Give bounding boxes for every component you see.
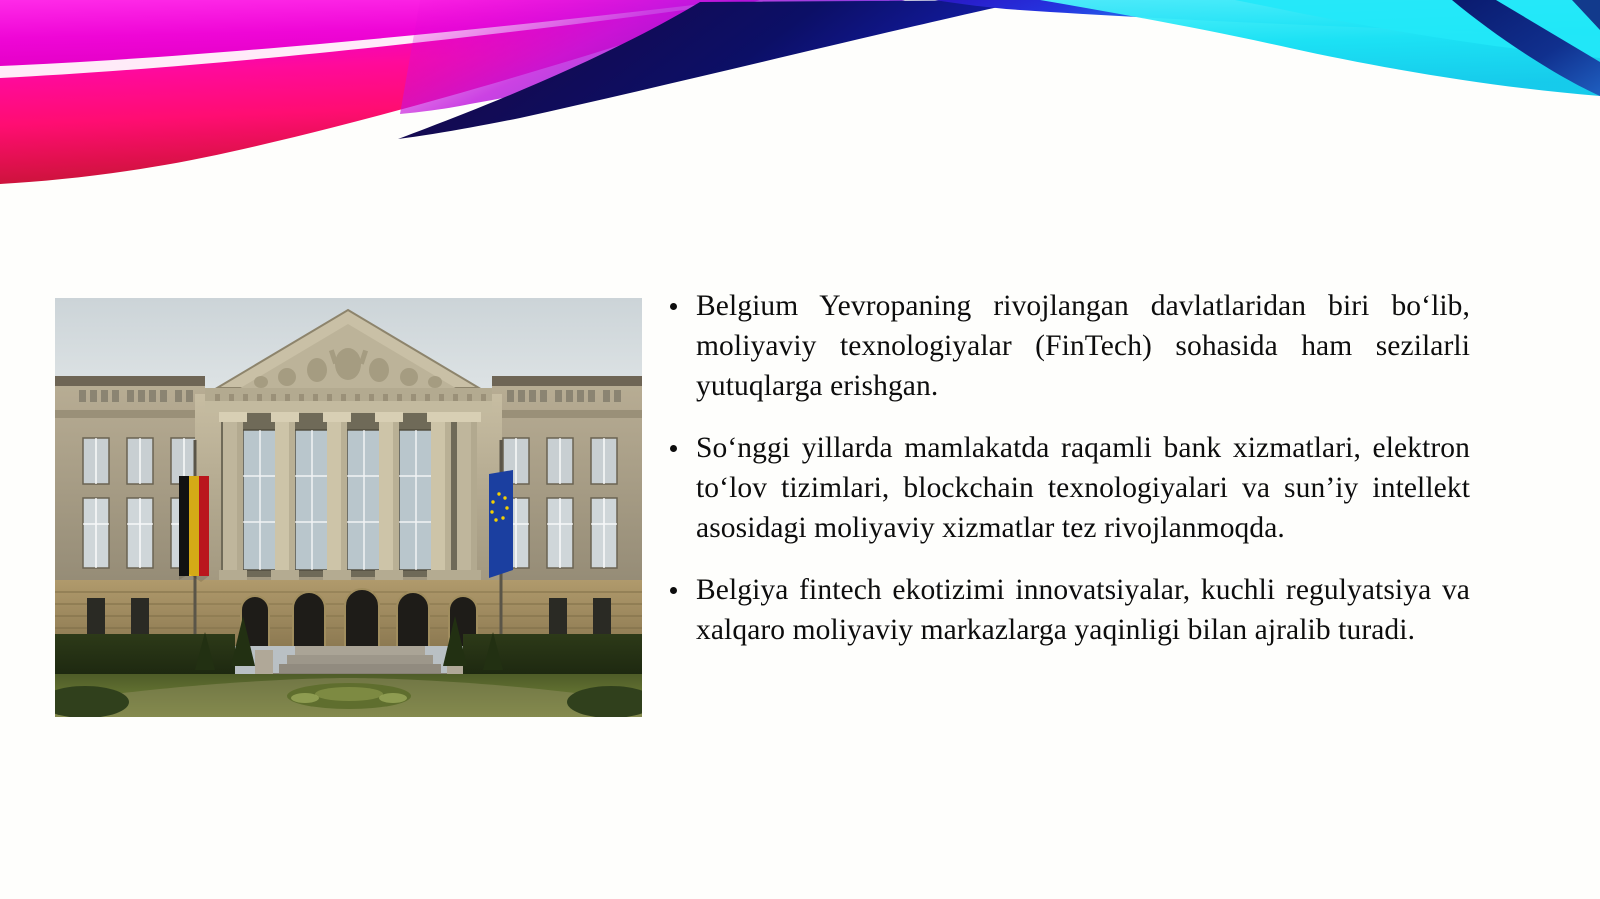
bullet-list: Belgium Yevropaning rivojlangan davlatla… [664,286,1470,650]
bullet-text: Belgiya fintech ekotizimi innovatsiyalar… [696,570,1470,650]
slide: Belgium Yevropaning rivojlangan davlatla… [0,0,1600,899]
list-item: Belgiya fintech ekotizimi innovatsiyalar… [664,570,1470,650]
belgian-federal-parliament-photo [55,298,642,717]
bullet-text: Soʻnggi yillarda mamlakatda raqamli bank… [696,428,1470,548]
bullet-dot-icon [670,587,677,594]
slide-body-text: Belgium Yevropaning rivojlangan davlatla… [664,286,1470,650]
bullet-text: Belgium Yevropaning rivojlangan davlatla… [696,286,1470,406]
bullet-dot-icon [670,303,677,310]
bullet-dot-icon [670,445,677,452]
list-item: Belgium Yevropaning rivojlangan davlatla… [664,286,1470,406]
decorative-wave-banner [0,0,1600,200]
list-item: Soʻnggi yillarda mamlakatda raqamli bank… [664,428,1470,548]
